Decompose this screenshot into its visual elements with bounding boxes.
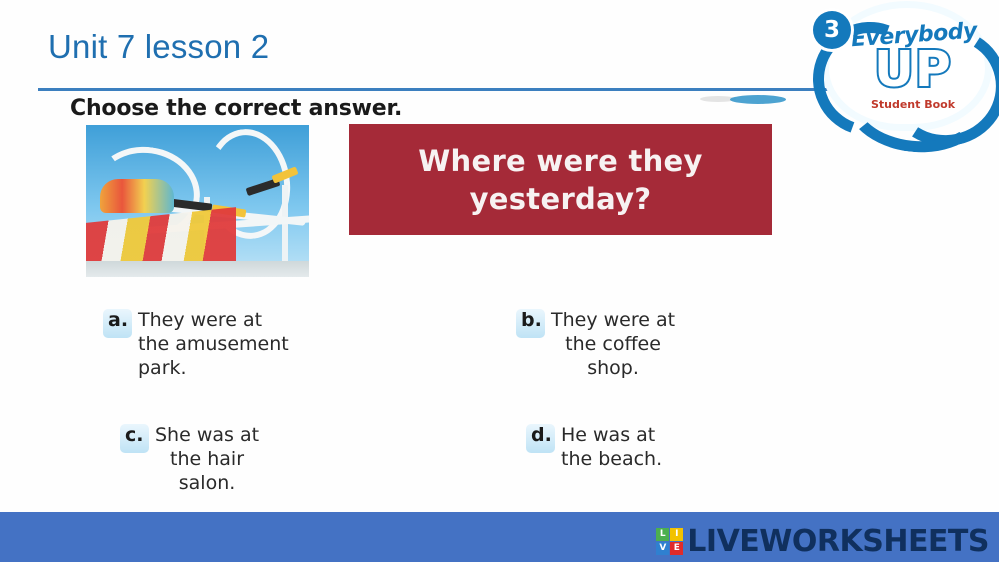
answer-option-c[interactable]: c. She was at the hair salon. — [120, 423, 259, 495]
question-banner: Where were they yesterday? — [349, 124, 772, 235]
option-letter-a: a. — [108, 309, 128, 331]
liveworksheets-brand[interactable]: L I V E LIVEWORKSHEETS — [656, 524, 989, 559]
answer-option-a[interactable]: a. They were at the amusement park. — [103, 308, 289, 380]
live-square-i: I — [670, 528, 683, 541]
option-letter-box-c[interactable]: c. — [120, 424, 149, 453]
carousel-canopy — [100, 179, 174, 213]
option-letter-box-a[interactable]: a. — [103, 309, 132, 338]
option-letter-box-b[interactable]: b. — [516, 309, 545, 338]
live-square-e: E — [670, 542, 683, 555]
option-letter-c: c. — [125, 424, 143, 446]
footer-bar: L I V E LIVEWORKSHEETS — [0, 512, 999, 562]
option-text-a: They were at the amusement park. — [138, 308, 289, 380]
clipped-graphic-artifact-blue — [730, 95, 786, 104]
answer-option-d[interactable]: d. He was at the beach. — [526, 423, 662, 471]
logo-level-badge: 3 — [813, 11, 851, 49]
everybody-up-logo: Everybody UP Student Book 3 — [799, 2, 995, 130]
option-letter-d: d. — [531, 424, 552, 446]
live-square-v: V — [656, 542, 669, 555]
logo-brand-up: UP — [851, 44, 975, 96]
option-text-d: He was at the beach. — [561, 423, 662, 471]
option-text-c: She was at the hair salon. — [155, 423, 259, 495]
worksheet-instruction: Choose the correct answer. — [70, 96, 402, 121]
liveworksheets-wordmark: LIVEWORKSHEETS — [687, 524, 989, 559]
amusement-park-photo — [86, 125, 309, 277]
answer-option-b[interactable]: b. They were at the coffee shop. — [516, 308, 675, 380]
option-letter-b: b. — [521, 309, 542, 331]
page-title: Unit 7 lesson 2 — [48, 28, 269, 66]
logo-student-book-label: Student Book — [851, 98, 975, 111]
live-squares-icon: L I V E — [656, 528, 683, 555]
live-square-l: L — [656, 528, 669, 541]
photo-ground — [86, 261, 309, 277]
option-letter-box-d[interactable]: d. — [526, 424, 555, 453]
question-text: Where were they yesterday? — [349, 142, 772, 218]
option-text-b: They were at the coffee shop. — [551, 308, 675, 380]
